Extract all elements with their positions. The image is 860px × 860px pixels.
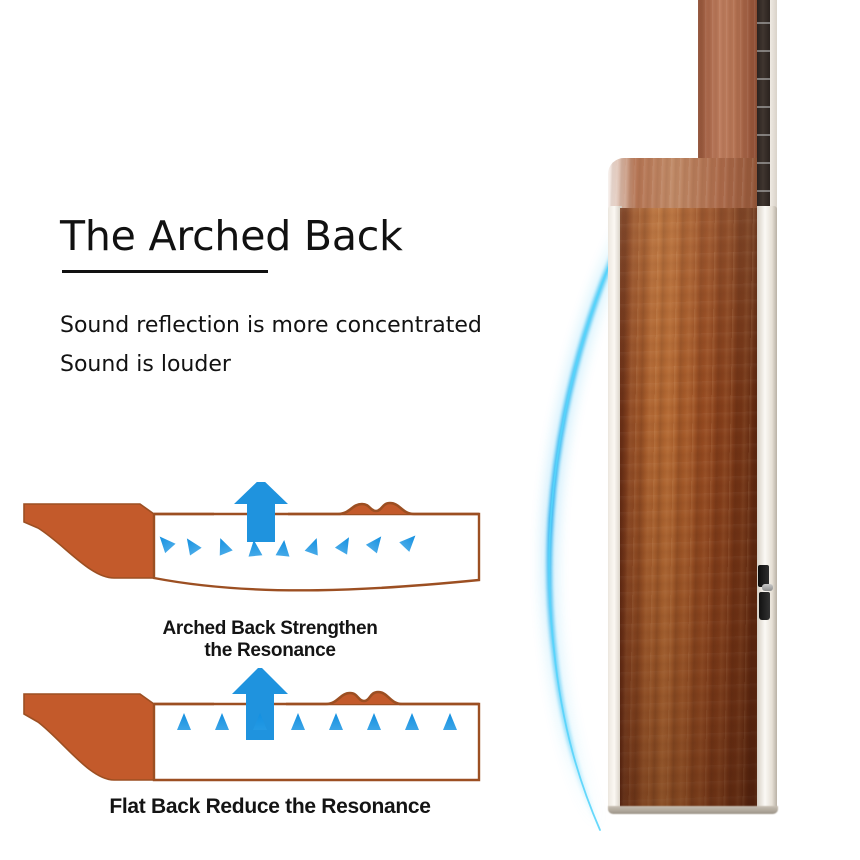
page-title: The Arched Back <box>60 212 403 260</box>
guitar-side-photo <box>560 0 860 860</box>
flat-back-illustration <box>18 668 498 798</box>
promo-page: The Arched Back Sound reflection is more… <box>0 0 860 860</box>
diagram-arched-caption: Arched Back Strengthen the Resonance <box>20 618 520 662</box>
arched-caption-line-1: Arched Back Strengthen <box>20 618 520 640</box>
guitar-neck-heel <box>608 158 764 210</box>
diagram-flat-back <box>18 668 498 798</box>
diagram-flat-caption: Flat Back Reduce the Resonance <box>0 795 540 819</box>
bridge-bump-shape <box>338 503 479 514</box>
strap-button-bottom <box>759 592 770 620</box>
arched-back-illustration <box>18 482 498 622</box>
guitar-body-side <box>620 208 759 812</box>
body-binding-right <box>757 206 777 813</box>
feature-text-line-1: Sound reflection is more concentrated <box>60 313 482 338</box>
heel-block-shape <box>24 504 154 578</box>
feature-text-line-2: Sound is louder <box>60 352 231 377</box>
strap-button <box>758 565 771 621</box>
body-cavity-flat <box>154 704 479 780</box>
arched-caption-line-2: the Resonance <box>20 640 520 662</box>
diagram-arched-back <box>18 482 498 622</box>
fretboard-binding <box>770 0 777 210</box>
heel-block-shape <box>24 694 154 780</box>
bridge-bump-shape <box>326 692 479 704</box>
strap-button-collar <box>762 584 773 591</box>
title-underline-divider <box>62 270 268 273</box>
body-bottom-edge <box>608 806 778 814</box>
